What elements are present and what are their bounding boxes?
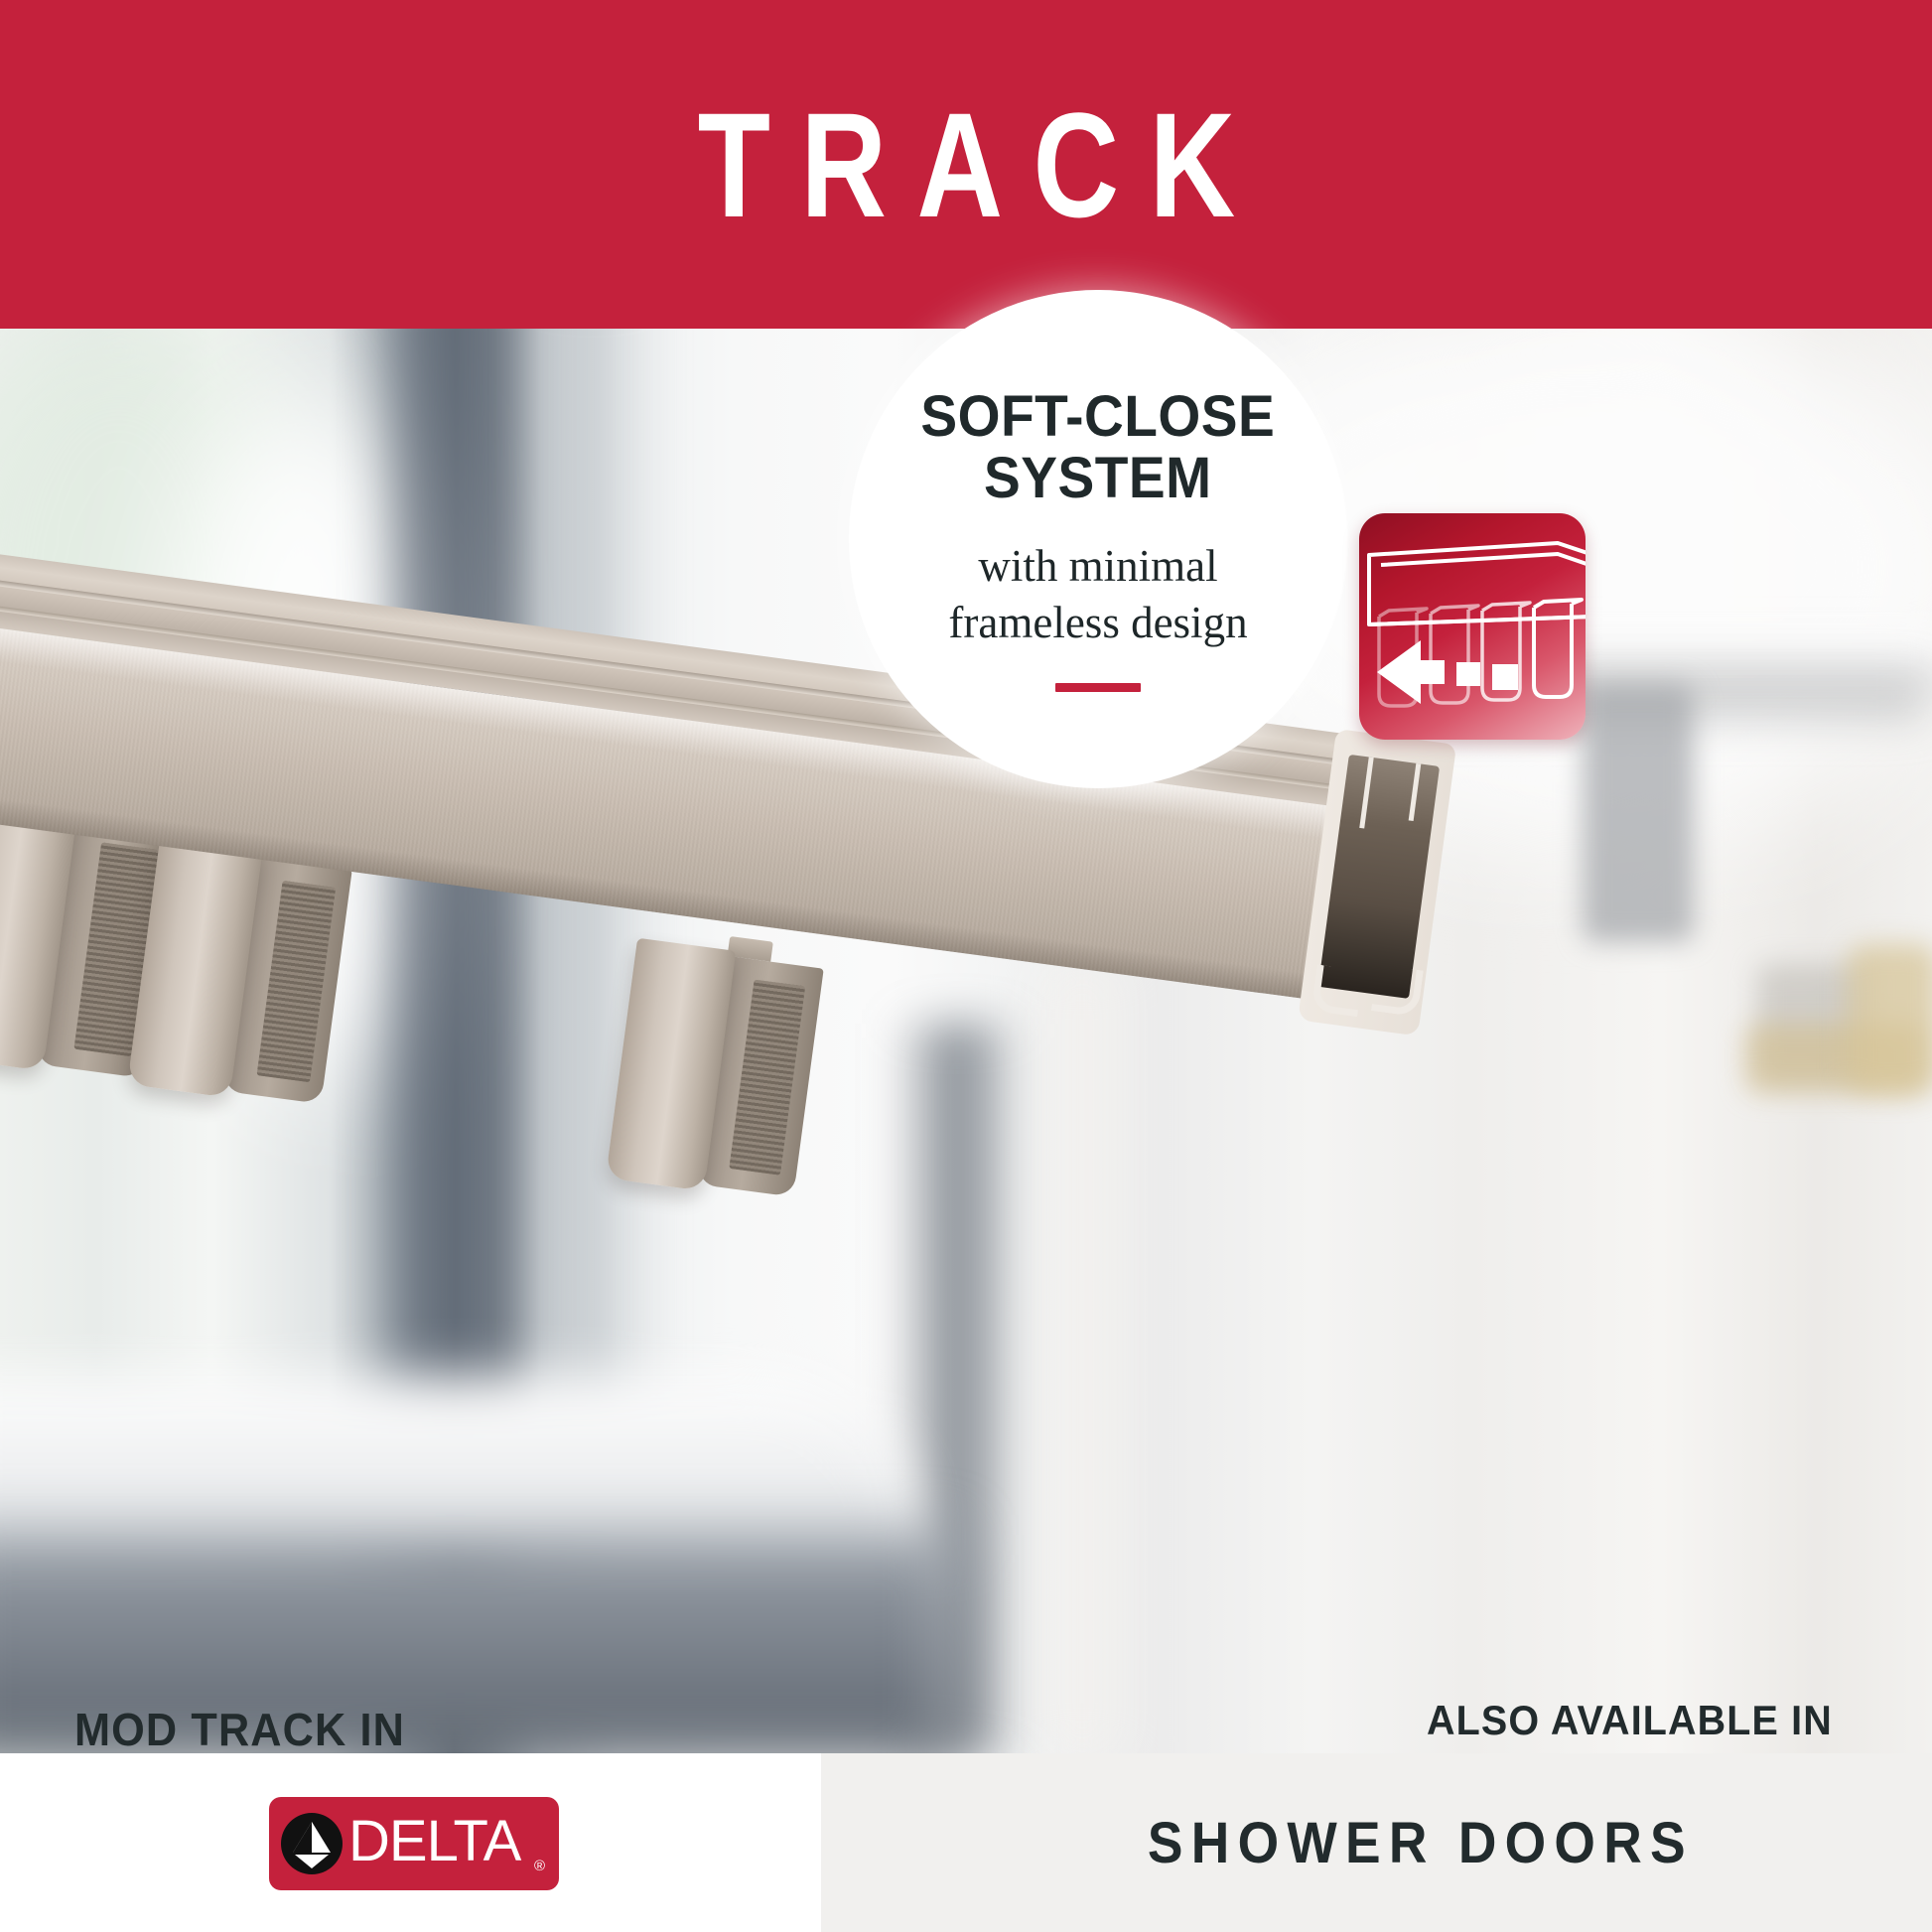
soft-close-badge: SOFT-CLOSE SYSTEM with minimal frameless… xyxy=(849,290,1347,788)
available-finishes: ALSO AVAILABLE IN CHROME MATTE BLACK xyxy=(1415,1697,1812,1753)
badge-title-line-2: SYSTEM xyxy=(984,448,1211,509)
delta-logo[interactable]: DELTA ® xyxy=(269,1797,559,1890)
delta-triangle-icon xyxy=(281,1813,343,1874)
badge-title-line-1: SOFT-CLOSE xyxy=(921,386,1276,448)
badge-subtitle-line-2: frameless design xyxy=(948,596,1247,650)
background-bottle xyxy=(1847,944,1932,1093)
product-caption: MOD TRACK IN BRUSHED NICKEL xyxy=(74,1702,475,1753)
registered-trademark-icon: ® xyxy=(534,1858,545,1874)
soft-close-track-icon xyxy=(1359,513,1586,740)
infographic-canvas: TRACK xyxy=(0,0,1932,1932)
delta-wordmark: DELTA xyxy=(348,1813,520,1870)
available-finishes-heading: ALSO AVAILABLE IN xyxy=(1427,1697,1800,1744)
footer-brand-panel: DELTA ® xyxy=(0,1753,821,1932)
header-banner: TRACK xyxy=(0,0,1932,329)
background-bottle xyxy=(1583,684,1694,942)
product-caption-line-1: MOD TRACK IN xyxy=(74,1702,475,1753)
footer: DELTA ® SHOWER DOORS xyxy=(0,1753,1932,1932)
badge-divider xyxy=(1055,683,1141,692)
footer-category-label: SHOWER DOORS xyxy=(1148,1810,1694,1876)
footer-category-panel: SHOWER DOORS xyxy=(821,1753,1932,1932)
badge-subtitle-line-1: with minimal xyxy=(978,539,1217,594)
page-title: TRACK xyxy=(667,90,1265,239)
